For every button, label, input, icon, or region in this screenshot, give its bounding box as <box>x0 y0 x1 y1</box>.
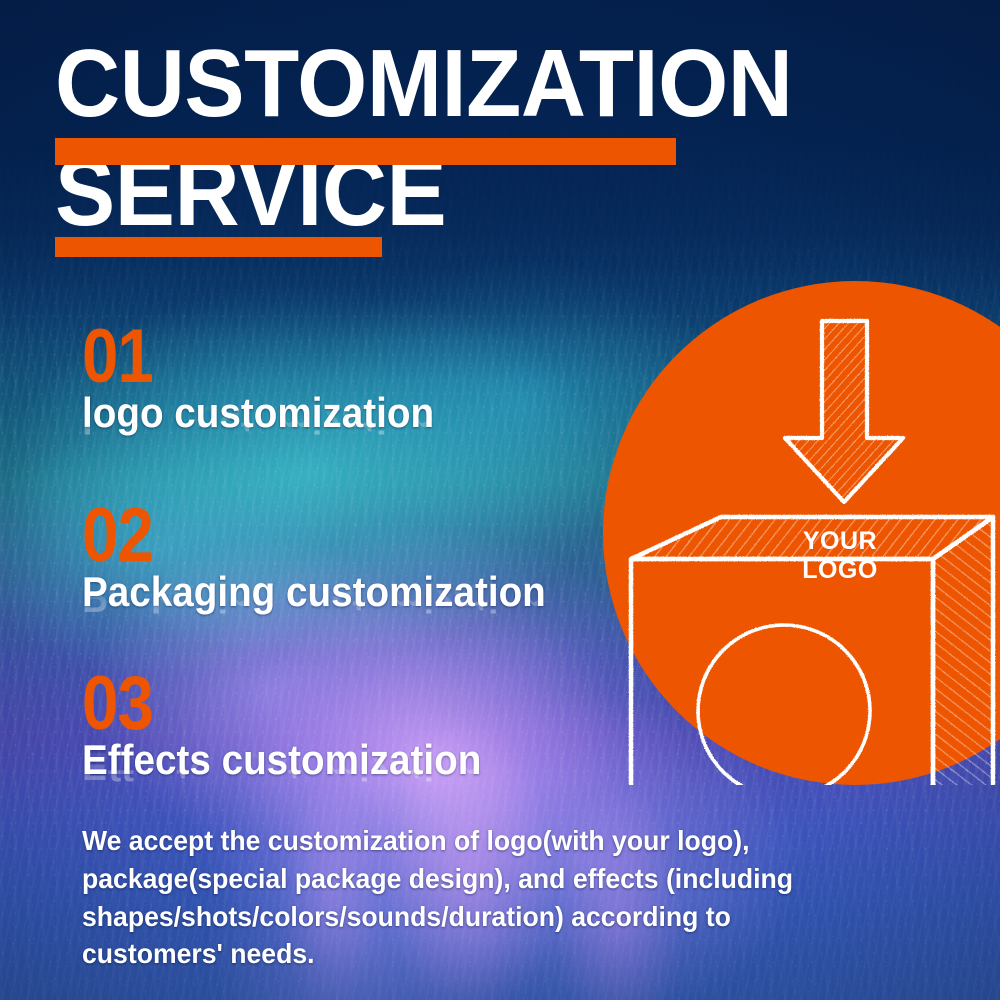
your-logo-line-2: LOGO <box>784 556 896 585</box>
feature-item-01: 01 logo customization logo customization <box>82 326 465 438</box>
title-underline-bar-2 <box>55 237 382 257</box>
feature-label-wrap-01: logo customization logo customization <box>82 392 465 438</box>
description-line-4: customers' needs. <box>82 935 833 973</box>
feature-label-wrap-03: Effects customization Effects customizat… <box>82 739 516 785</box>
feature-label-02: Packaging customization <box>82 571 546 613</box>
feature-label-wrap-02: Packaging customization Packaging custom… <box>82 571 586 617</box>
feature-label-03: Effects customization <box>82 739 481 781</box>
logo-placeholder-circle-icon <box>698 625 870 785</box>
feature-number-01: 01 <box>82 326 411 388</box>
description-paragraph: We accept the customization of logo(with… <box>82 822 833 973</box>
title-underline-bar-1 <box>55 138 676 165</box>
description-line-2: package(special package design), and eff… <box>82 860 833 898</box>
feature-number-03: 03 <box>82 673 455 735</box>
box-side-face <box>933 517 993 785</box>
customization-service-banner: YOUR LOGO CUSTOMIZATION SERVICE 01 logo … <box>0 0 1000 1000</box>
description-line-3: shapes/shots/colors/sounds/duration) acc… <box>82 898 833 936</box>
feature-item-03: 03 Effects customization Effects customi… <box>82 673 516 785</box>
feature-label-01: logo customization <box>82 392 434 434</box>
description-line-1: We accept the customization of logo(with… <box>82 822 833 860</box>
feature-number-02: 02 <box>82 505 516 567</box>
feature-item-02: 02 Packaging customization Packaging cus… <box>82 505 586 617</box>
your-logo-line-1: YOUR <box>784 527 896 556</box>
box-front-face <box>631 559 933 785</box>
title-line-customization: CUSTOMIZATION <box>55 44 792 125</box>
your-logo-text: YOUR LOGO <box>784 527 896 585</box>
down-arrow-icon <box>785 321 903 502</box>
